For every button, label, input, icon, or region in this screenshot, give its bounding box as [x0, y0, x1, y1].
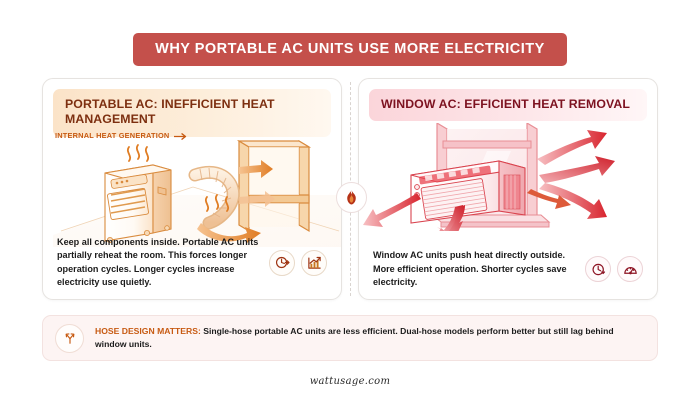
- window-ac-illustration: [359, 123, 657, 231]
- portable-ac-caption-row: Keep all components inside. Portable AC …: [43, 236, 341, 289]
- infographic-canvas: WHY PORTABLE AC UNITS USE MORE ELECTRICI…: [0, 0, 700, 420]
- arrow-right-icon: [174, 133, 190, 140]
- clock-back-arrow-icon: [585, 256, 611, 282]
- panel-window-ac-heading: WINDOW AC: EFFICIENT HEAT REMOVAL: [369, 89, 647, 121]
- hose-design-note-label: HOSE DESIGN MATTERS:: [95, 326, 201, 336]
- window-ac-caption: Window AC units push heat directly outsi…: [373, 249, 585, 289]
- window-ac-badges: [585, 256, 643, 282]
- hose-design-note: HOSE DESIGN MATTERS: Single-hose portabl…: [42, 315, 658, 361]
- clock-arrow-icon: [269, 250, 295, 276]
- internal-heat-annotation: INTERNAL HEAT GENERATION: [55, 131, 190, 141]
- panel-portable-ac-heading: PORTABLE AC: INEFFICIENT HEAT MANAGEMENT: [53, 89, 331, 137]
- title-banner-wrap: WHY PORTABLE AC UNITS USE MORE ELECTRICI…: [0, 33, 700, 66]
- page-title: WHY PORTABLE AC UNITS USE MORE ELECTRICI…: [133, 33, 567, 66]
- flame-icon: [336, 182, 367, 213]
- gauge-icon: [617, 256, 643, 282]
- split-fork-icon: [55, 324, 84, 353]
- panel-window-ac: WINDOW AC: EFFICIENT HEAT REMOVAL: [358, 78, 658, 300]
- window-ac-caption-row: Window AC units push heat directly outsi…: [359, 249, 657, 289]
- portable-ac-caption: Keep all components inside. Portable AC …: [57, 236, 269, 289]
- chart-increase-icon: [301, 250, 327, 276]
- panel-portable-ac: PORTABLE AC: INEFFICIENT HEAT MANAGEMENT: [42, 78, 342, 300]
- hose-design-note-text: HOSE DESIGN MATTERS: Single-hose portabl…: [95, 325, 645, 351]
- site-watermark: wattusage.com: [0, 376, 700, 387]
- portable-ac-badges: [269, 250, 327, 276]
- portable-ac-illustration: [43, 139, 341, 247]
